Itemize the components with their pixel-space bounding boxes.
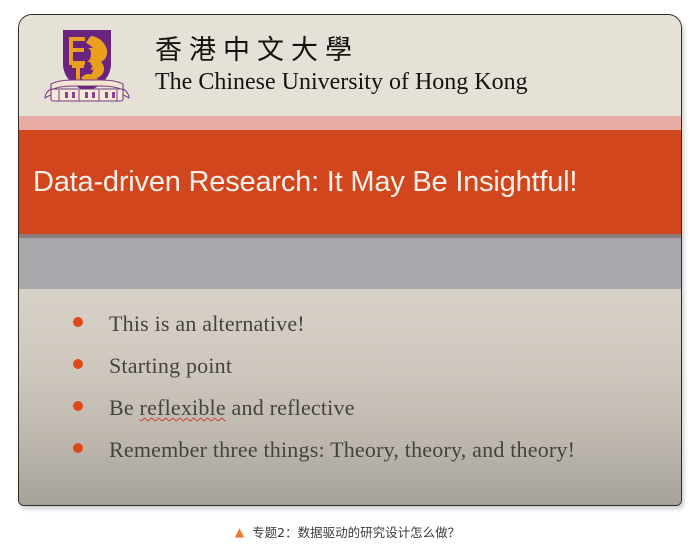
slide-title-band: Data-driven Research: It May Be Insightf… bbox=[19, 130, 681, 234]
slide-header: 香港中文大學 The Chinese University of Hong Ko… bbox=[19, 15, 681, 116]
slide-title: Data-driven Research: It May Be Insightf… bbox=[33, 166, 577, 199]
presentation-slide: 香港中文大學 The Chinese University of Hong Ko… bbox=[18, 14, 682, 506]
salmon-accent-strip bbox=[19, 116, 681, 130]
bullet-list: This is an alternative! Starting point B… bbox=[19, 311, 681, 465]
cuhk-shield-logo-icon bbox=[41, 24, 133, 108]
bullet-text: This is an alternative! bbox=[109, 311, 305, 337]
university-name-english: The Chinese University of Hong Kong bbox=[155, 70, 528, 94]
list-item: This is an alternative! bbox=[73, 311, 681, 339]
misspelled-word: reflexible bbox=[140, 395, 226, 420]
bullet-dot-icon bbox=[73, 401, 83, 411]
bullet-dot-icon bbox=[73, 359, 83, 369]
bullet-dot-icon bbox=[73, 443, 83, 453]
slide-footer-caption: ▲ 专题2：数据驱动的研究设计怎么做？ bbox=[0, 522, 695, 541]
bullet-text: Be reflexible and reflective bbox=[109, 395, 355, 421]
grey-accent-band bbox=[19, 238, 681, 289]
slide-content-area: This is an alternative! Starting point B… bbox=[19, 289, 681, 505]
bullet-dot-icon bbox=[73, 317, 83, 327]
university-wordmark: 香港中文大學 The Chinese University of Hong Ko… bbox=[155, 37, 528, 94]
bullet-text: Starting point bbox=[109, 353, 232, 379]
university-name-chinese: 香港中文大學 bbox=[155, 37, 528, 64]
bullet-text-before: Be bbox=[109, 395, 140, 420]
list-item: Be reflexible and reflective bbox=[73, 395, 681, 423]
footer-text: 专题2：数据驱动的研究设计怎么做？ bbox=[252, 522, 460, 541]
list-item: Remember three things: Theory, theory, a… bbox=[73, 437, 681, 465]
bullet-text-after: and reflective bbox=[226, 395, 355, 420]
list-item: Starting point bbox=[73, 353, 681, 381]
bullet-text: Remember three things: Theory, theory, a… bbox=[109, 437, 575, 463]
triangle-marker-icon: ▲ bbox=[235, 526, 244, 538]
